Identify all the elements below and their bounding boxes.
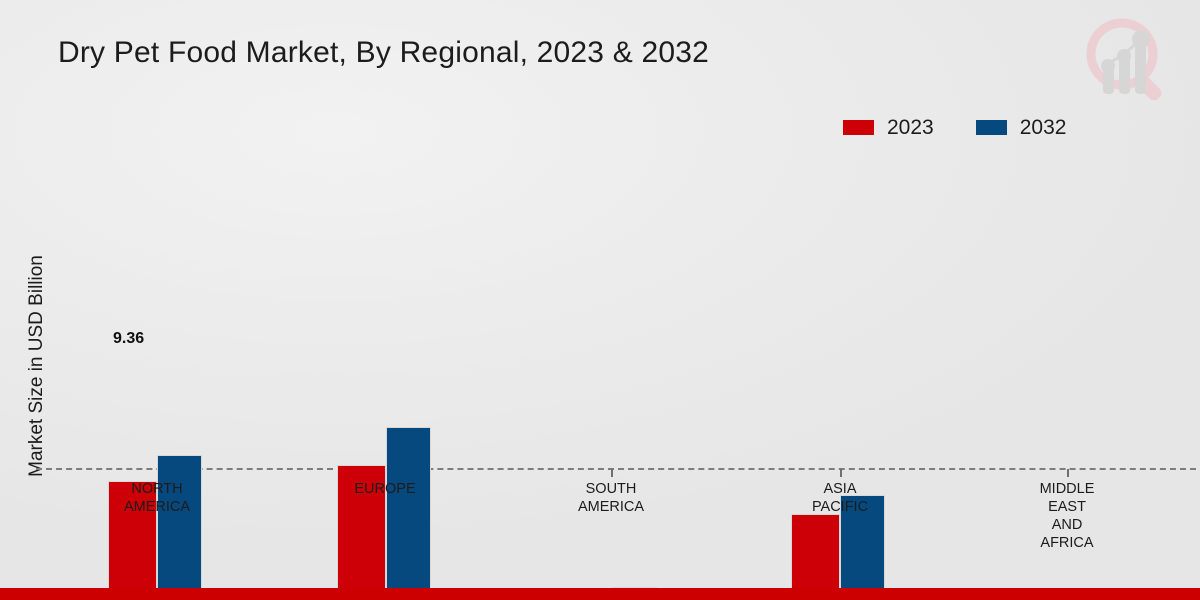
axis-label-line: AMERICA — [77, 498, 237, 516]
axis-label-line: AMERICA — [531, 498, 691, 516]
axis-label-line: ASIA — [760, 480, 920, 498]
bar-value-north-america-2023: 9.36 — [113, 330, 144, 348]
x-axis-baseline — [36, 468, 1196, 470]
axis-label-middle-east-and-africa: MIDDLE EAST AND AFRICA — [987, 480, 1147, 552]
bar-2032-europe[interactable] — [386, 427, 431, 600]
axis-label-line: SOUTH — [531, 480, 691, 498]
axis-label-line: EAST — [987, 498, 1147, 516]
axis-label-line: EUROPE — [305, 480, 465, 498]
axis-label-asia-pacific: ASIA PACIFIC — [760, 480, 920, 516]
axis-label-north-america: NORTH AMERICA — [77, 480, 237, 516]
axis-label-europe: EUROPE — [305, 480, 465, 498]
axis-tick-asia-pacific — [840, 469, 842, 477]
footer-accent-bar — [0, 588, 1200, 600]
axis-label-line: MIDDLE — [987, 480, 1147, 498]
bar-2032-north-america[interactable] — [157, 455, 202, 600]
chart-canvas: Dry Pet Food Market, By Regional, 2023 &… — [0, 0, 1200, 600]
axis-label-south-america: SOUTH AMERICA — [531, 480, 691, 516]
axis-tick-middle-east-and-africa — [1067, 469, 1069, 477]
plot-area: 9.36 NORTH AMERICA EUROPE SOUTH AMERICA … — [0, 0, 1200, 600]
axis-tick-south-america — [611, 469, 613, 477]
axis-label-line: PACIFIC — [760, 498, 920, 516]
axis-label-line: AND — [987, 516, 1147, 534]
axis-label-line: AFRICA — [987, 534, 1147, 552]
axis-label-line: NORTH — [77, 480, 237, 498]
